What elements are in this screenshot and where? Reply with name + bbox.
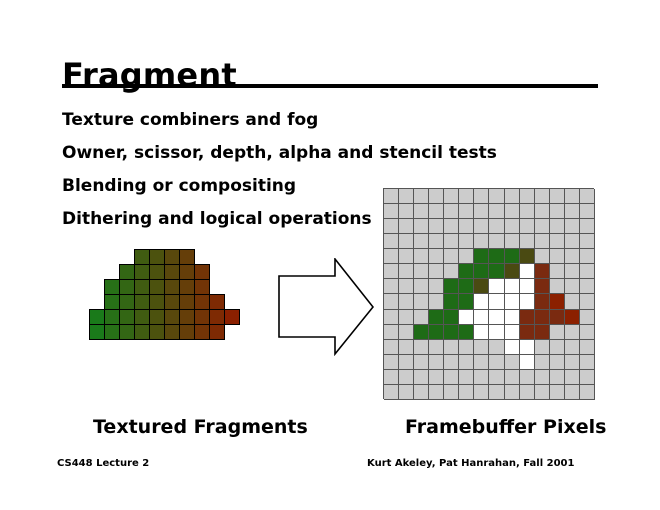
framebuffer-cell: [429, 325, 444, 340]
framebuffer-cell: [580, 279, 595, 294]
fragment-cell: [224, 309, 240, 325]
framebuffer-cell: [384, 340, 399, 355]
framebuffer-cell: [444, 279, 459, 294]
fragment-cell: [194, 309, 210, 325]
framebuffer-cell: [444, 294, 459, 309]
framebuffer-cell: [505, 370, 520, 385]
framebuffer-cell: [489, 370, 504, 385]
fragment-cell: [104, 309, 120, 325]
framebuffer-cell: [505, 264, 520, 279]
framebuffer-cell: [580, 385, 595, 400]
framebuffer-cell: [580, 204, 595, 219]
framebuffer-cell: [489, 264, 504, 279]
framebuffer-cell: [580, 234, 595, 249]
fragment-cell: [179, 264, 195, 280]
framebuffer-cell: [384, 310, 399, 325]
framebuffer-cell: [565, 385, 580, 400]
framebuffer-cell: [384, 370, 399, 385]
framebuffer-cell: [459, 385, 474, 400]
framebuffer-cell: [444, 355, 459, 370]
framebuffer-cell: [459, 340, 474, 355]
framebuffer-cell: [505, 279, 520, 294]
framebuffer-cell: [505, 355, 520, 370]
framebuffer-cell: [384, 355, 399, 370]
framebuffer-cell: [459, 294, 474, 309]
framebuffer-cell: [520, 325, 535, 340]
textured-fragments-raster: [89, 249, 240, 340]
framebuffer-cell: [535, 340, 550, 355]
framebuffer-cell: [489, 325, 504, 340]
framebuffer-cell: [399, 385, 414, 400]
framebuffer-cell: [505, 249, 520, 264]
fragment-cell: [149, 309, 165, 325]
framebuffer-cell: [520, 264, 535, 279]
framebuffer-cell: [429, 370, 444, 385]
framebuffer-cell: [535, 385, 550, 400]
framebuffer-cell: [474, 325, 489, 340]
framebuffer-cell: [489, 355, 504, 370]
framebuffer-cell: [520, 385, 535, 400]
framebuffer-cell: [565, 325, 580, 340]
framebuffer-cell: [520, 340, 535, 355]
framebuffer-cell: [580, 355, 595, 370]
fragment-cell: [149, 279, 165, 295]
framebuffer-cell: [550, 370, 565, 385]
fragment-cell: [89, 324, 105, 340]
framebuffer-cell: [414, 310, 429, 325]
framebuffer-cell: [414, 325, 429, 340]
fragment-cell: [164, 279, 180, 295]
framebuffer-cell: [444, 249, 459, 264]
fragment-cell: [179, 249, 195, 265]
framebuffer-cell: [384, 249, 399, 264]
framebuffer-cell: [384, 279, 399, 294]
bullet-item-3: Blending or compositing: [62, 178, 582, 195]
framebuffer-cell: [580, 310, 595, 325]
framebuffer-cell: [565, 340, 580, 355]
framebuffer-cell: [384, 264, 399, 279]
framebuffer-cell: [414, 340, 429, 355]
framebuffer-cell: [459, 325, 474, 340]
framebuffer-cell: [565, 249, 580, 264]
fragment-cell: [119, 279, 135, 295]
framebuffer-cell: [520, 355, 535, 370]
framebuffer-cell: [565, 370, 580, 385]
framebuffer-cell: [550, 340, 565, 355]
fragment-cell: [164, 249, 180, 265]
fragment-cell: [179, 279, 195, 295]
framebuffer-cell: [535, 264, 550, 279]
framebuffer-cell: [384, 294, 399, 309]
fragment-cell: [134, 324, 150, 340]
fragment-cell: [134, 279, 150, 295]
framebuffer-cell: [535, 249, 550, 264]
framebuffer-cell: [414, 264, 429, 279]
framebuffer-cell: [474, 264, 489, 279]
bullet-item-4: Dithering and logical operations: [62, 211, 582, 228]
framebuffer-cell: [565, 264, 580, 279]
framebuffer-cell: [580, 219, 595, 234]
framebuffer-cell: [565, 310, 580, 325]
framebuffer-cell: [550, 249, 565, 264]
framebuffer-cell: [535, 279, 550, 294]
framebuffer-cell: [535, 310, 550, 325]
bullet-list: Texture combiners and fog Owner, scissor…: [62, 112, 582, 244]
framebuffer-cell: [399, 340, 414, 355]
fragment-cell: [164, 294, 180, 310]
framebuffer-cell: [505, 294, 520, 309]
framebuffer-cell: [520, 279, 535, 294]
fragment-cell: [104, 279, 120, 295]
framebuffer-cell: [474, 385, 489, 400]
fragment-cell: [89, 309, 105, 325]
framebuffer-cell: [429, 294, 444, 309]
fragment-cell: [179, 294, 195, 310]
framebuffer-cell: [414, 279, 429, 294]
framebuffer-cell: [384, 325, 399, 340]
framebuffer-cell: [429, 340, 444, 355]
framebuffer-cell: [535, 355, 550, 370]
framebuffer-cell: [535, 370, 550, 385]
framebuffer-cell: [565, 294, 580, 309]
framebuffer-cell: [459, 370, 474, 385]
framebuffer-cell: [429, 385, 444, 400]
fragment-cell: [134, 294, 150, 310]
framebuffer-cell: [444, 264, 459, 279]
bullet-item-2: Owner, scissor, depth, alpha and stencil…: [62, 145, 582, 162]
framebuffer-cell: [459, 310, 474, 325]
framebuffer-cell: [459, 279, 474, 294]
fragment-cell: [179, 324, 195, 340]
framebuffer-cell: [535, 294, 550, 309]
framebuffer-cell: [399, 264, 414, 279]
framebuffer-cell: [429, 264, 444, 279]
fragment-cell: [179, 309, 195, 325]
caption-framebuffer-pixels: Framebuffer Pixels: [405, 418, 606, 437]
framebuffer-cell: [520, 370, 535, 385]
framebuffer-cell: [444, 385, 459, 400]
framebuffer-cell: [399, 310, 414, 325]
framebuffer-cell: [520, 294, 535, 309]
framebuffer-cell: [459, 264, 474, 279]
framebuffer-cell: [550, 355, 565, 370]
framebuffer-cell: [444, 370, 459, 385]
framebuffer-cell: [580, 340, 595, 355]
fragment-cell: [209, 324, 225, 340]
framebuffer-cell: [474, 310, 489, 325]
framebuffer-cell: [580, 264, 595, 279]
framebuffer-cell: [520, 249, 535, 264]
framebuffer-cell: [474, 249, 489, 264]
fragment-cell: [194, 279, 210, 295]
framebuffer-cell: [550, 325, 565, 340]
fragment-cell: [119, 309, 135, 325]
fragment-cell: [194, 324, 210, 340]
framebuffer-cell: [474, 355, 489, 370]
framebuffer-cell: [489, 279, 504, 294]
framebuffer-cell: [399, 355, 414, 370]
fragment-cell: [119, 264, 135, 280]
framebuffer-cell: [474, 370, 489, 385]
framebuffer-cell: [550, 294, 565, 309]
fragment-cell: [149, 324, 165, 340]
framebuffer-cell: [429, 310, 444, 325]
framebuffer-cell: [505, 340, 520, 355]
fragment-cell: [134, 264, 150, 280]
framebuffer-cell: [505, 385, 520, 400]
framebuffer-cell: [474, 279, 489, 294]
fragment-cell: [194, 294, 210, 310]
framebuffer-cell: [565, 279, 580, 294]
framebuffer-cell: [489, 294, 504, 309]
fragment-cell: [134, 249, 150, 265]
fragment-cell: [104, 324, 120, 340]
framebuffer-cell: [414, 355, 429, 370]
bullet-item-1: Texture combiners and fog: [62, 112, 582, 129]
right-arrow-icon: [278, 258, 374, 356]
framebuffer-cell: [444, 310, 459, 325]
framebuffer-cell: [505, 325, 520, 340]
fragment-cell: [164, 309, 180, 325]
fragment-cell: [104, 294, 120, 310]
framebuffer-cell: [459, 355, 474, 370]
framebuffer-cell: [489, 385, 504, 400]
framebuffer-cell: [399, 279, 414, 294]
fragment-cell: [149, 294, 165, 310]
framebuffer-cell: [444, 340, 459, 355]
fragment-cell: [164, 264, 180, 280]
fragment-cell: [119, 324, 135, 340]
framebuffer-cell: [550, 385, 565, 400]
framebuffer-cell: [414, 294, 429, 309]
framebuffer-cell: [399, 249, 414, 264]
framebuffer-cell: [399, 370, 414, 385]
footer-lecture: CS448 Lecture 2: [57, 459, 149, 469]
framebuffer-cell: [429, 279, 444, 294]
framebuffer-cell: [520, 310, 535, 325]
slide-root: Fragment Texture combiners and fog Owner…: [0, 0, 660, 510]
title-divider: [62, 84, 598, 88]
fragment-cell: [209, 309, 225, 325]
framebuffer-cell: [580, 249, 595, 264]
caption-textured-fragments: Textured Fragments: [93, 418, 308, 437]
framebuffer-cell: [474, 340, 489, 355]
framebuffer-cell: [535, 325, 550, 340]
framebuffer-cell: [580, 294, 595, 309]
fragment-cell: [134, 309, 150, 325]
fragment-cell: [149, 264, 165, 280]
footer-authors: Kurt Akeley, Pat Hanrahan, Fall 2001: [367, 459, 574, 469]
framebuffer-cell: [580, 325, 595, 340]
framebuffer-cell: [580, 370, 595, 385]
framebuffer-cell: [489, 249, 504, 264]
framebuffer-cell: [414, 249, 429, 264]
fragment-cell: [149, 249, 165, 265]
framebuffer-cell: [399, 294, 414, 309]
fragment-cell: [119, 294, 135, 310]
fragment-cell: [164, 324, 180, 340]
fragment-cell: [209, 294, 225, 310]
framebuffer-cell: [444, 325, 459, 340]
framebuffer-cell: [384, 385, 399, 400]
framebuffer-cell: [414, 370, 429, 385]
framebuffer-cell: [474, 294, 489, 309]
fragment-cell: [194, 264, 210, 280]
framebuffer-cell: [550, 279, 565, 294]
framebuffer-cell: [580, 189, 595, 204]
framebuffer-cell: [550, 310, 565, 325]
framebuffer-cell: [565, 355, 580, 370]
framebuffer-cell: [489, 310, 504, 325]
framebuffer-cell: [550, 264, 565, 279]
framebuffer-cell: [399, 325, 414, 340]
framebuffer-cell: [459, 249, 474, 264]
framebuffer-cell: [414, 385, 429, 400]
framebuffer-cell: [489, 340, 504, 355]
framebuffer-cell: [429, 249, 444, 264]
framebuffer-cell: [429, 355, 444, 370]
framebuffer-cell: [505, 310, 520, 325]
